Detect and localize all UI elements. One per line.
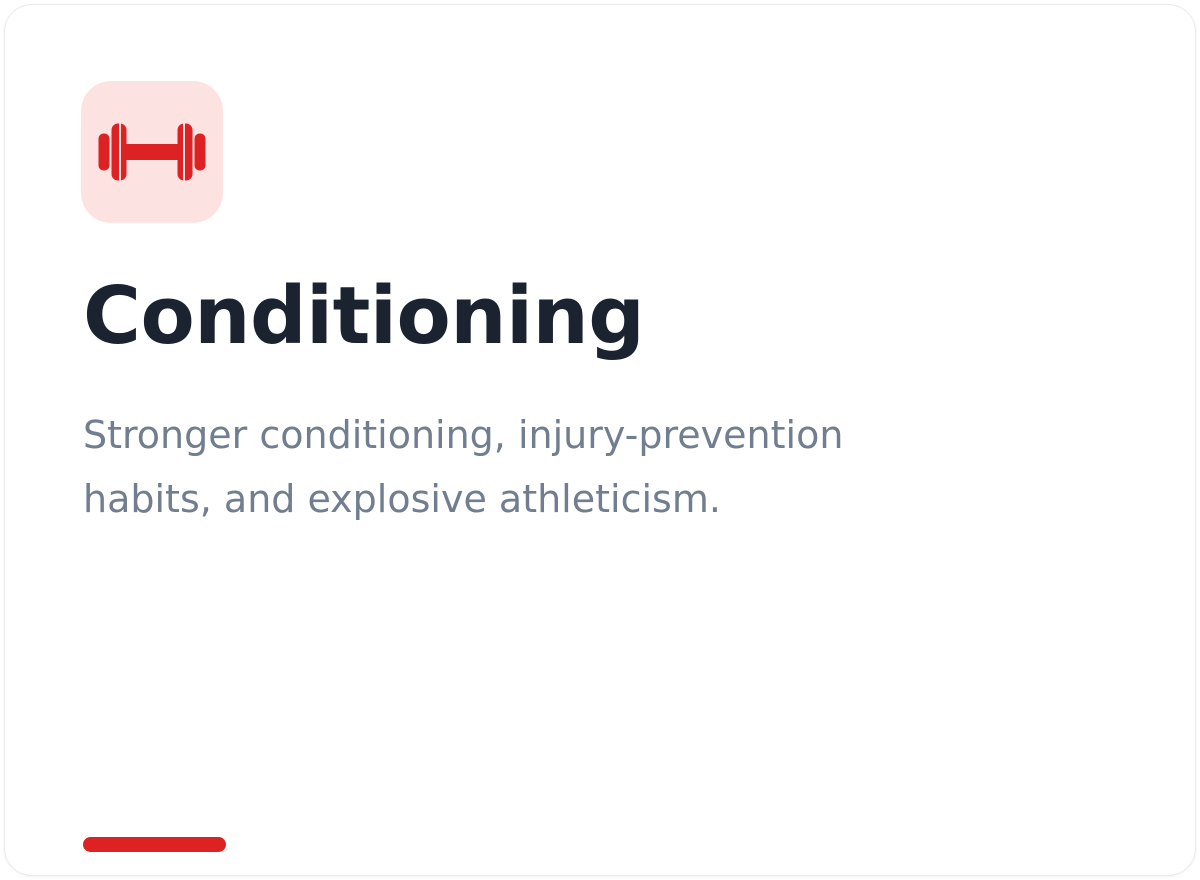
icon-tile xyxy=(81,81,223,223)
card-title: Conditioning xyxy=(83,277,644,356)
card-description: Stronger conditioning, injury-prevention… xyxy=(83,403,873,531)
accent-bar xyxy=(83,837,226,852)
feature-card: Conditioning Stronger conditioning, inju… xyxy=(4,4,1196,876)
